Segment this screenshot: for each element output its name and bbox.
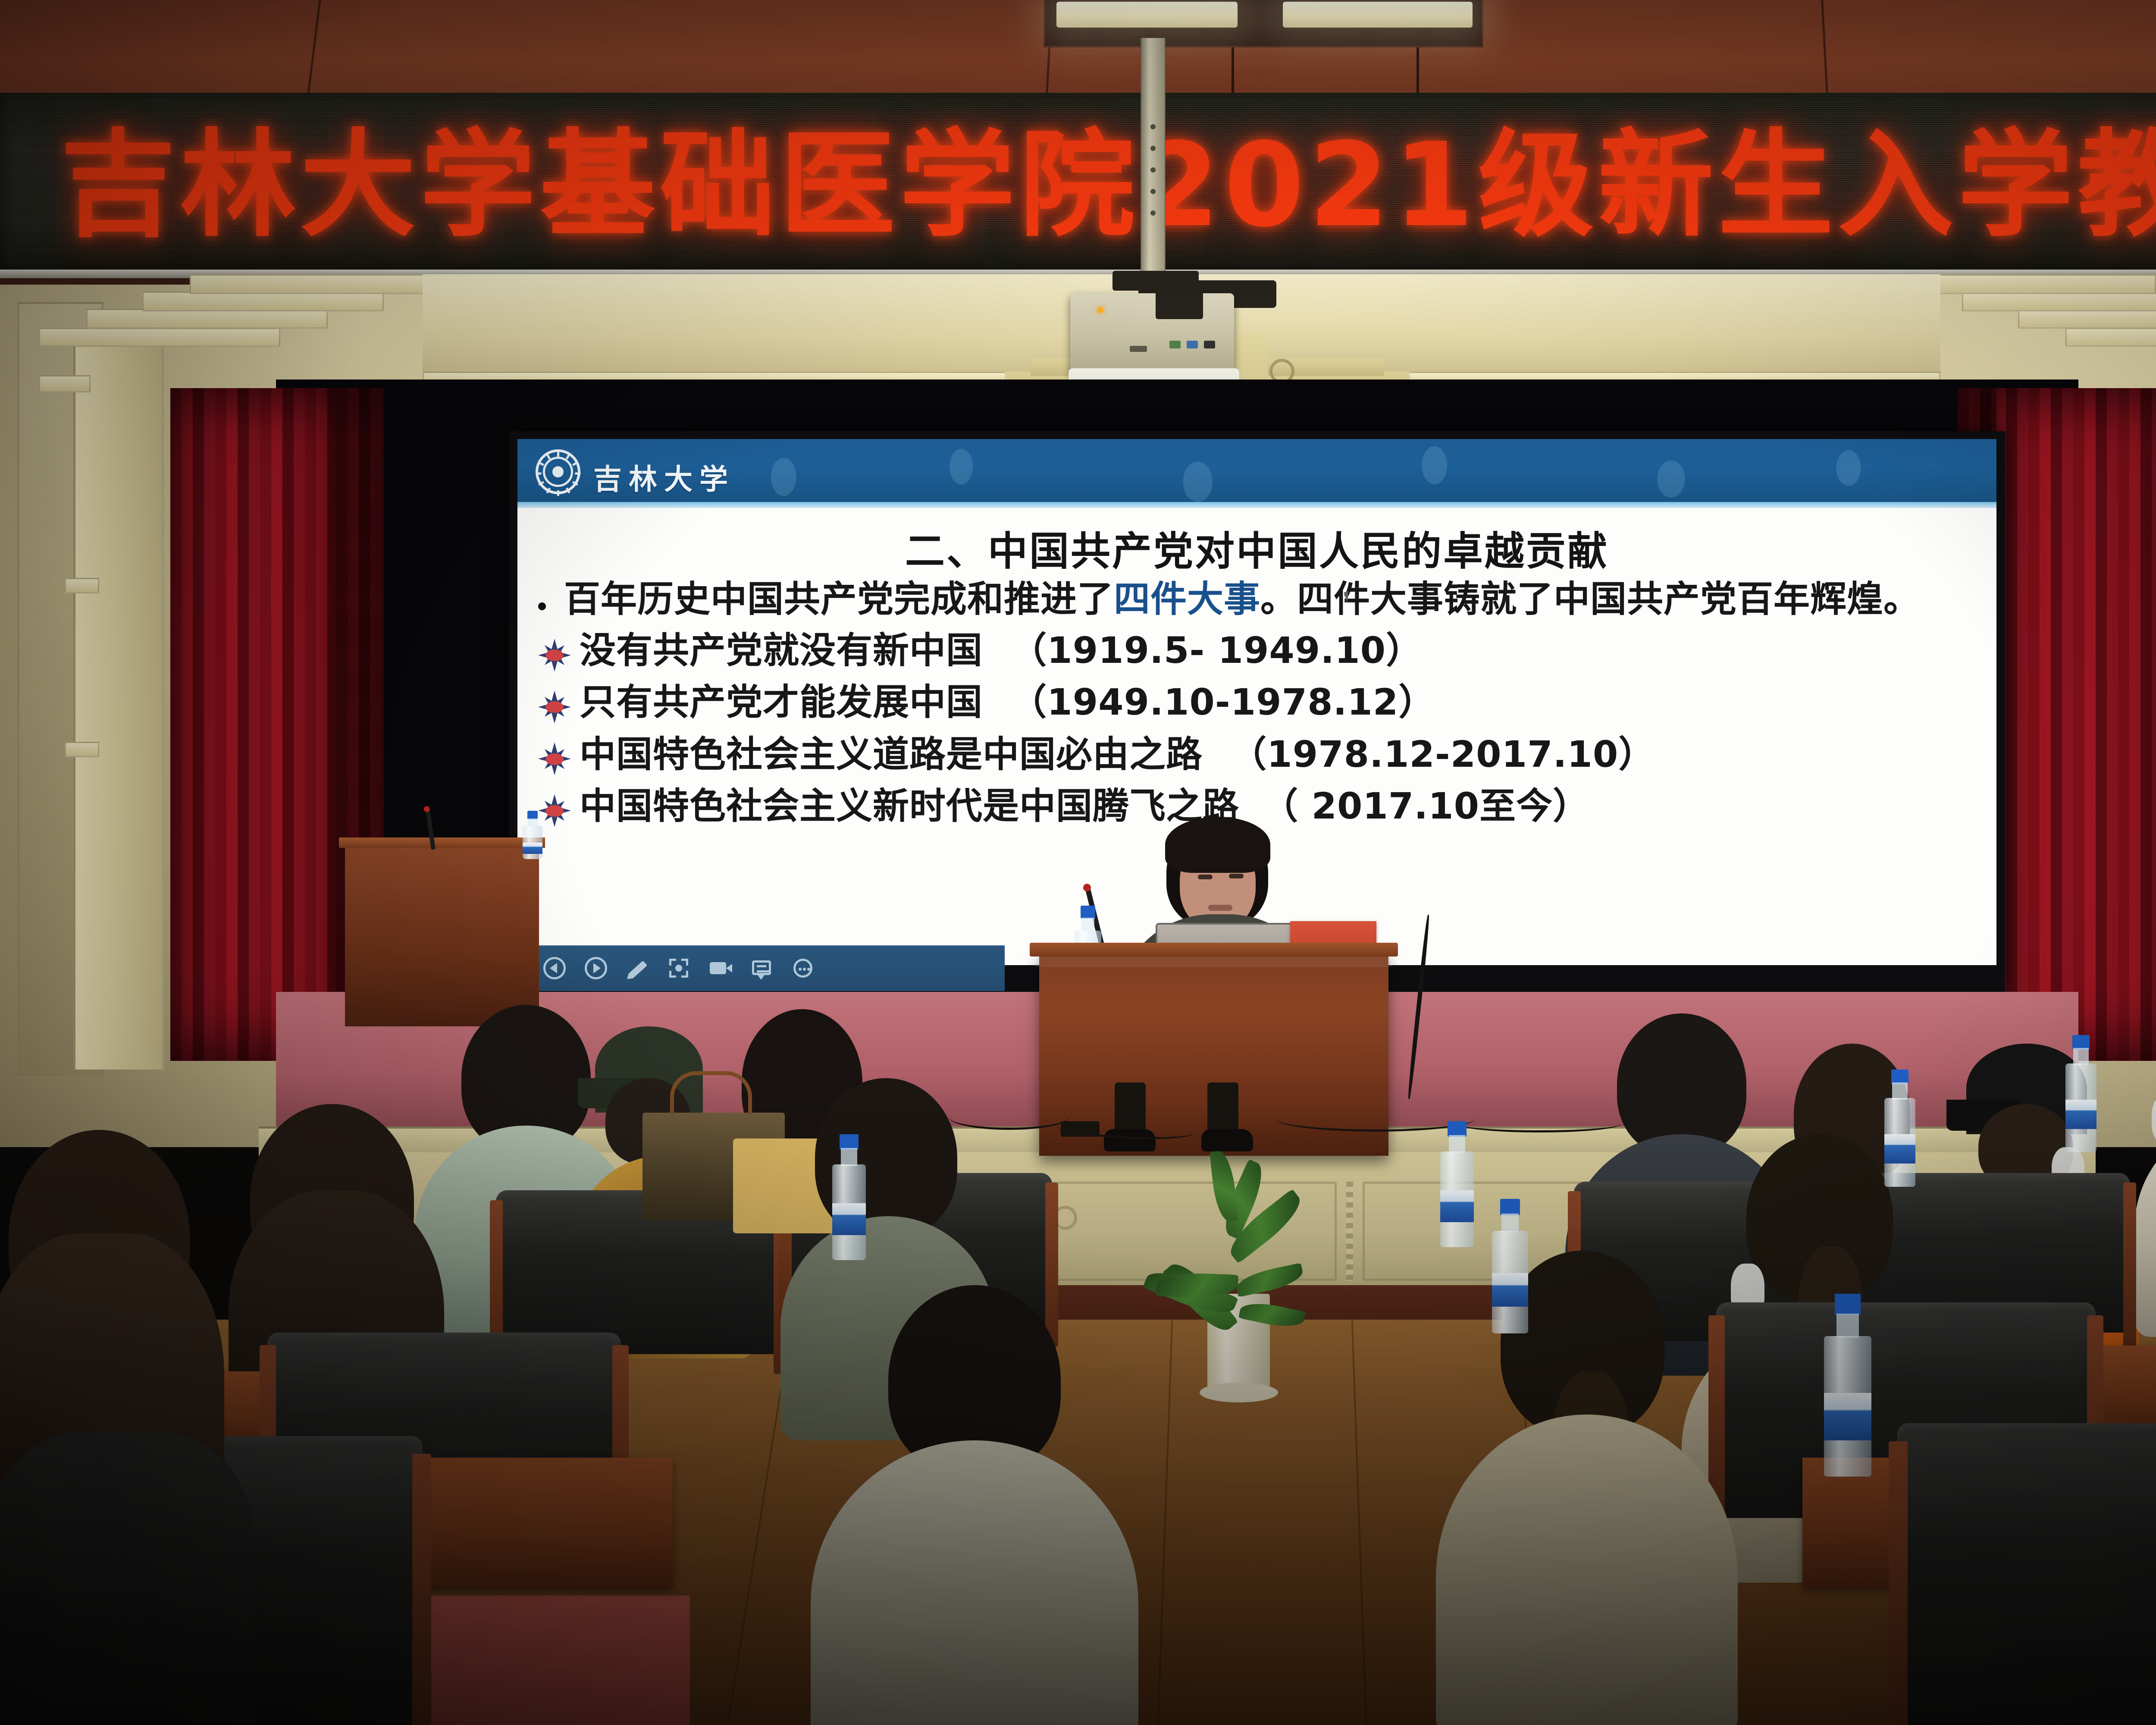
- secondary-podium: [345, 845, 539, 1026]
- ceiling-projector: [1070, 293, 1234, 379]
- star-bullet-icon: [538, 690, 571, 723]
- led-banner-board: 吉林大学基础医学院2021级新生入学教育: [0, 93, 2156, 278]
- projector-port: [1187, 341, 1198, 348]
- previous-slide-icon[interactable]: [543, 957, 566, 979]
- water-bottle[interactable]: [832, 1134, 866, 1259]
- presenter-shoe: [1201, 1129, 1253, 1151]
- proscenium-molding: [86, 309, 328, 329]
- ceiling-light: [1056, 2, 1238, 28]
- next-slide-icon[interactable]: [585, 957, 607, 979]
- proscenium-molding: [190, 274, 457, 294]
- presenter-hair-top: [1165, 817, 1270, 873]
- stage-curtain-right: [1984, 388, 2156, 1061]
- bullet-3-period: （1978.12-2017.10）: [1230, 733, 1655, 775]
- bullet-2-period: （1949.10-1978.12）: [1010, 681, 1435, 723]
- slide-bullet-2: 只有共产党才能发展中国 （1949.10-1978.12）: [532, 682, 1982, 722]
- proscenium-molding: [65, 742, 99, 757]
- presenter-mouth: [1208, 905, 1232, 911]
- audience-chair[interactable]: [1897, 1423, 2156, 1725]
- video-icon[interactable]: [709, 957, 731, 979]
- slide-header: 吉林大学: [517, 439, 1996, 508]
- slide-title: 二、中国共产党对中国人民的卓越贡献: [532, 519, 1982, 577]
- bullet-1-period: （1919.5- 1949.10）: [1010, 629, 1423, 671]
- led-banner-text: 吉林大学基础医学院2021级新生入学教育: [60, 114, 2156, 257]
- floor-cable: [949, 1104, 1069, 1130]
- slide-paragraph: 百年历史中国共产党完成和推进了四件大事。四件大事铸就了中国共产党百年辉煌。: [532, 579, 1982, 619]
- bullet-2-text: 只有共产党才能发展中国: [580, 681, 983, 723]
- water-bottle[interactable]: [1824, 1294, 1871, 1475]
- water-bottle[interactable]: [2065, 1035, 2096, 1151]
- ppt-presenter-toolbar[interactable]: [530, 945, 1005, 991]
- proscenium-molding: [39, 328, 280, 347]
- star-bullet-icon: [538, 794, 571, 827]
- subtitles-icon[interactable]: [750, 957, 773, 979]
- jilin-university-emblem-icon: [536, 449, 580, 494]
- proscenium-molding: [2018, 309, 2156, 329]
- proscenium-column-left: [73, 328, 164, 1069]
- paragraph-suffix: 。四件大事铸就了中国共产党百年辉煌。: [1260, 578, 1920, 620]
- water-bottle[interactable]: [523, 811, 542, 858]
- proscenium-molding: [1962, 292, 2156, 311]
- power-adapter: [1061, 1121, 1100, 1137]
- slide-bullet-3: 中国特色社会主义道路是中国必由之路 （1978.12-2017.10）: [532, 734, 1982, 775]
- slide-header-underline: [517, 502, 1996, 508]
- star-bullet-icon: [538, 639, 571, 671]
- bullet-3-text: 中国特色社会主义道路是中国必由之路: [580, 733, 1203, 775]
- paragraph-bullet-dot: [538, 602, 546, 610]
- floor-cable: [1457, 1115, 1621, 1132]
- slide-bullet-1: 没有共产党就没有新中国 （1919.5- 1949.10）: [532, 630, 1982, 671]
- proscenium-molding: [2065, 328, 2156, 347]
- paragraph-highlight: 四件大事: [1114, 578, 1260, 620]
- proscenium-molding: [39, 375, 91, 392]
- stage-curtain-left: [170, 388, 343, 1061]
- projector-port: [1130, 346, 1147, 352]
- slide-institution-name: 吉林大学: [593, 456, 735, 498]
- projector-port: [1204, 341, 1215, 348]
- water-bottle[interactable]: [1492, 1199, 1528, 1333]
- laser-pointer-icon[interactable]: [667, 957, 690, 979]
- presenter-eye: [1229, 874, 1244, 878]
- bullet-1-text: 没有共产党就没有新中国: [580, 629, 983, 671]
- proscenium-molding: [142, 292, 384, 311]
- water-bottle[interactable]: [1884, 1069, 1915, 1186]
- projector-status-led: [1097, 307, 1103, 313]
- lecture-hall-photo: 吉林大学基础医学院2021级新生入学教育: [0, 0, 2156, 1725]
- pen-icon[interactable]: [626, 957, 649, 979]
- stage-front-bead: [1346, 1182, 1353, 1281]
- paragraph-prefix: 百年历史中国共产党完成和推进了: [564, 578, 1114, 620]
- presenter-eye: [1198, 875, 1213, 879]
- ceiling-light: [1283, 2, 1473, 28]
- more-options-icon[interactable]: [792, 957, 814, 979]
- star-bullet-icon: [538, 743, 571, 775]
- water-bottle[interactable]: [1440, 1121, 1474, 1246]
- projector-hinge: [1156, 289, 1203, 319]
- proscenium-molding: [65, 578, 99, 593]
- projector-port: [1169, 341, 1181, 348]
- projector-mount-pole: [1141, 38, 1166, 279]
